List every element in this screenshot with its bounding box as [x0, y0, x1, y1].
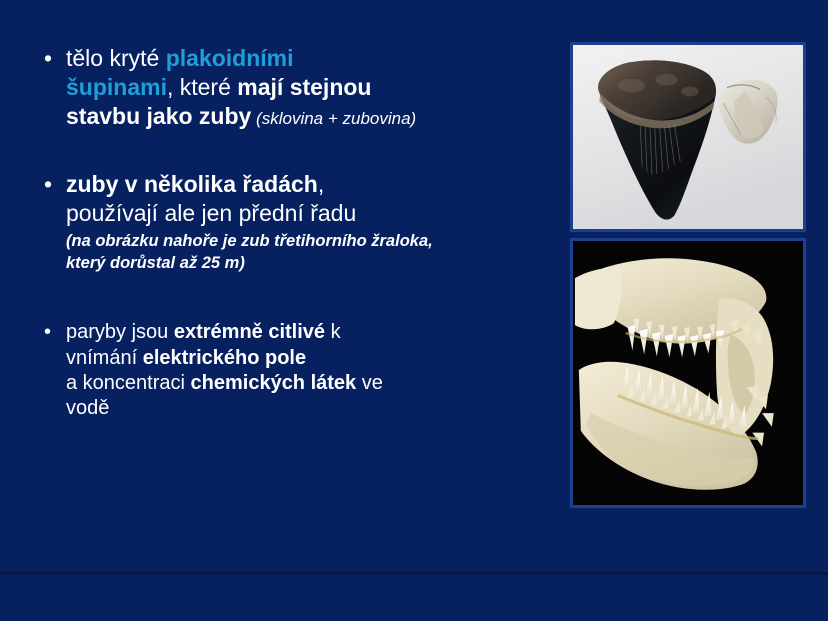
text-run-bold: zuby v několika řadách: [66, 171, 318, 197]
text-run: paryby jsou: [66, 321, 174, 343]
text-run: vodě: [66, 397, 109, 419]
text-run-bold: elektrického pole: [143, 347, 306, 369]
text-run: ,: [318, 171, 324, 197]
highlighted-term: šupinami: [66, 74, 167, 100]
text-run-bold: extrémně citlivé: [174, 321, 325, 343]
text-run-bold: mají stejnou: [237, 74, 371, 100]
bullet-item-2: • zuby v několika řadách, používají ale …: [44, 170, 544, 275]
note-line-2: který dorůstal až 25 m): [66, 252, 544, 274]
bullet-marker: •: [44, 320, 66, 345]
bullet-item-2-note: (na obrázku nahoře je zub třetihorního ž…: [66, 230, 544, 274]
text-run: vnímání: [66, 347, 143, 369]
text-run: používají ale jen přední řadu: [66, 200, 356, 226]
slide-text-column: • tělo kryté plakoidními šupinami, které…: [44, 44, 544, 422]
bullet-item-3-body: paryby jsou extrémně citlivé k vnímání e…: [66, 320, 544, 422]
fossil-shark-tooth-illustration: [573, 45, 803, 229]
text-run-bold: stavbu jako zuby: [66, 103, 251, 129]
bullet-item-2-line-1: zuby v několika řadách,: [66, 170, 544, 199]
shark-jaw-illustration: [573, 241, 803, 505]
text-run: k: [325, 321, 341, 343]
bullet-item-2-line-2: používají ale jen přední řadu: [66, 199, 544, 228]
bullet-item-3-line-3: a koncentraci chemických látek ve: [66, 371, 544, 396]
presentation-slide: • tělo kryté plakoidními šupinami, které…: [0, 0, 828, 621]
bullet-item-1-body: tělo kryté plakoidními šupinami, které m…: [66, 44, 544, 132]
shark-jaw-photo: [570, 238, 806, 508]
text-run: ve: [356, 372, 383, 394]
bullet-marker: •: [44, 170, 66, 199]
bullet-item-1: • tělo kryté plakoidními šupinami, které…: [44, 44, 544, 132]
text-run: a koncentraci: [66, 372, 191, 394]
note-line-1: (na obrázku nahoře je zub třetihorního ž…: [66, 230, 544, 252]
text-run: tělo kryté: [66, 45, 166, 71]
slide-divider: [0, 572, 828, 575]
bullet-item-3-line-1: paryby jsou extrémně citlivé k: [66, 320, 544, 345]
bullet-item-1-line-1: tělo kryté plakoidními: [66, 44, 544, 73]
bullet-item-3-line-2: vnímání elektrického pole: [66, 346, 544, 371]
text-run-bold: chemických látek: [191, 372, 357, 394]
bullet-item-1-line-3: stavbu jako zuby (sklovina + zubovina): [66, 102, 544, 131]
upper-jaw-left-wing: [575, 268, 622, 329]
parenthetical-note: (sklovina + zubovina): [251, 109, 416, 128]
bullet-item-2-body: zuby v několika řadách, používají ale je…: [66, 170, 544, 275]
text-run: , které: [167, 74, 237, 100]
highlighted-term: plakoidními: [166, 45, 294, 71]
fossil-shark-tooth-photo: [570, 42, 806, 232]
bullet-item-1-line-2: šupinami, které mají stejnou: [66, 73, 544, 102]
bullet-marker: •: [44, 44, 66, 73]
bullet-item-3: • paryby jsou extrémně citlivé k vnímání…: [44, 320, 544, 422]
bullet-item-3-line-4: vodě: [66, 396, 544, 421]
